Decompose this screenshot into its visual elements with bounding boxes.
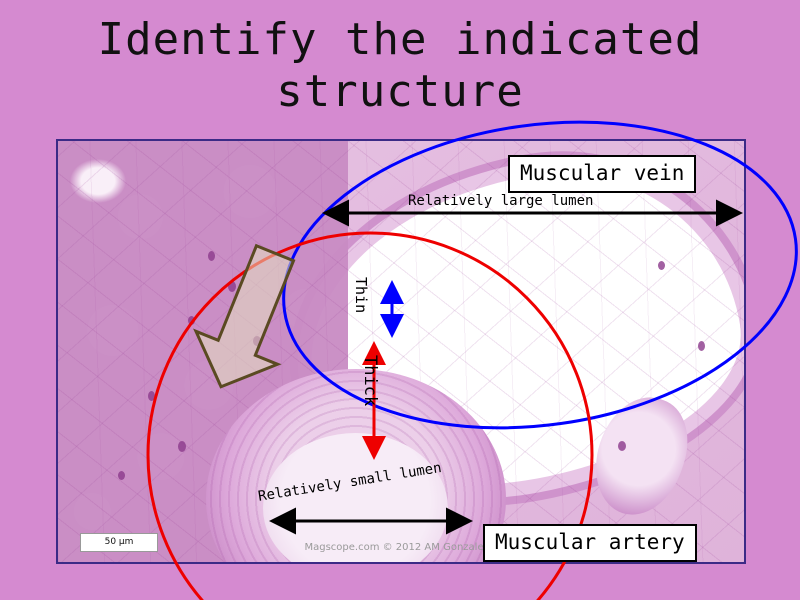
cell-nucleus — [188, 316, 195, 325]
cell-nucleus — [658, 261, 665, 270]
cell-nucleus — [253, 336, 261, 346]
label-muscular-artery: Muscular artery — [483, 524, 697, 562]
slide-canvas: Identify the indicated structure 50 µm M… — [0, 0, 800, 600]
page-title: Identify the indicated structure — [0, 14, 800, 118]
cell-nucleus — [118, 471, 125, 480]
label-muscular-vein: Muscular vein — [508, 155, 696, 193]
histology-image-panel: 50 µm Magscope.com © 2012 AM Gonzalez & … — [56, 139, 746, 564]
annotation-thick: Thick — [360, 355, 380, 406]
cell-nucleus — [698, 341, 705, 351]
annotation-large-lumen: Relatively large lumen — [408, 193, 593, 209]
cell-nucleus — [618, 441, 626, 451]
cell-nucleus — [208, 251, 215, 261]
cell-nucleus — [178, 441, 186, 452]
cell-nucleus — [148, 391, 155, 401]
scale-bar: 50 µm — [80, 533, 158, 552]
annotation-thin: Thin — [352, 277, 370, 313]
cell-nucleus — [228, 281, 236, 292]
